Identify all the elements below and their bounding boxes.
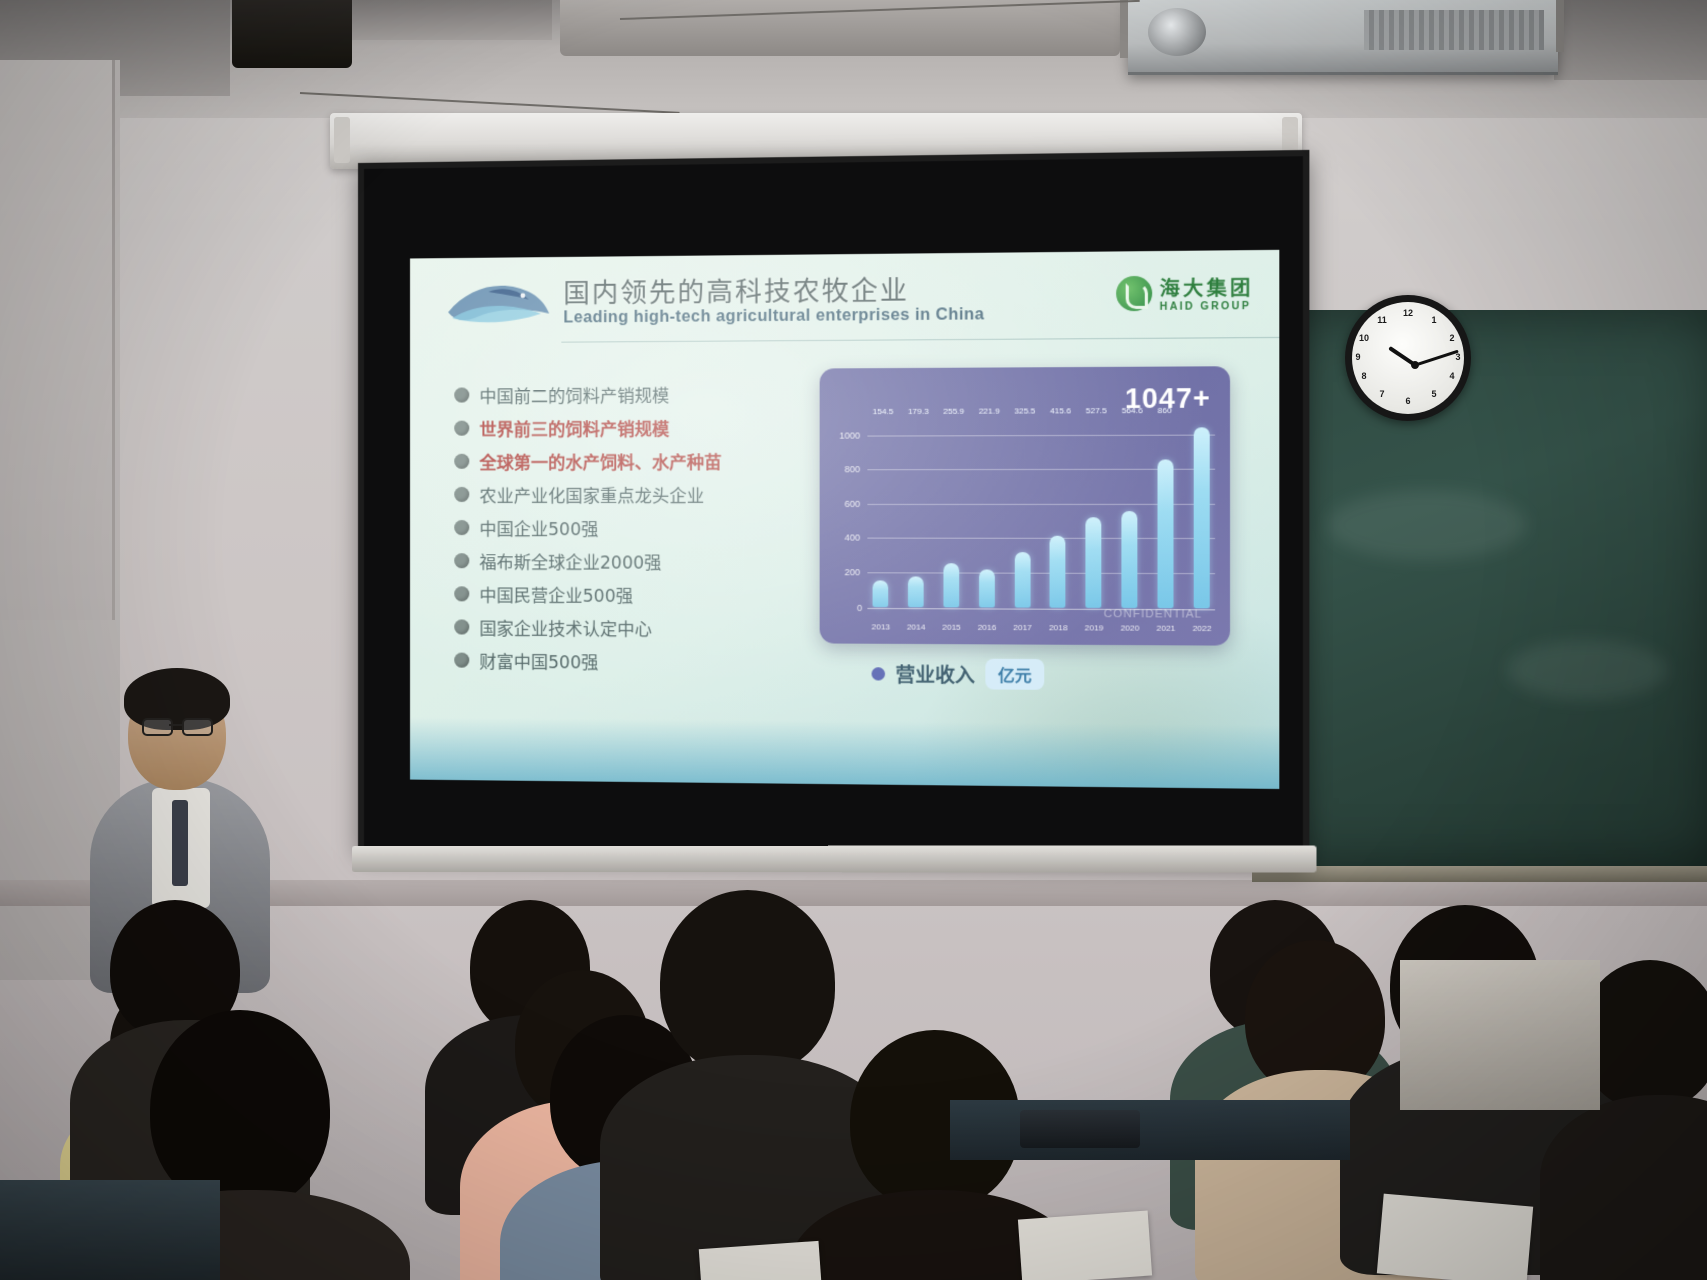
lecture-hall-scene: 12 1 2 3 4 5 6 7 8 9 10 11 bbox=[0, 0, 1707, 1280]
audience-head bbox=[660, 890, 835, 1075]
chalk-tray bbox=[1252, 866, 1707, 882]
bullet-dot-icon bbox=[454, 586, 469, 601]
chart-x-tick-label: 2017 bbox=[1013, 623, 1031, 632]
slide-background-water bbox=[410, 717, 1279, 789]
student-desk bbox=[950, 1100, 1350, 1160]
haid-name-cn: 海大集团 bbox=[1160, 273, 1254, 302]
chart-bar: 255.9 bbox=[943, 563, 959, 607]
bullet-label: 中国前二的饲料产销规模 bbox=[479, 381, 669, 407]
chart-bar-group: 154.5 bbox=[872, 419, 890, 607]
lectern bbox=[1400, 960, 1600, 1110]
title-divider bbox=[561, 337, 1279, 343]
chart-bar-group: 179.3 bbox=[907, 419, 925, 607]
ceiling-tile bbox=[1554, 0, 1707, 80]
list-item: 中国企业500强 bbox=[454, 511, 790, 545]
clock-number: 1 bbox=[1427, 315, 1441, 325]
ceiling-speaker bbox=[232, 0, 352, 68]
clock-number: 4 bbox=[1445, 371, 1459, 381]
clock-face: 12 1 2 3 4 5 6 7 8 9 10 11 bbox=[1352, 302, 1464, 414]
revenue-chart-card: 1047+ 2004006008001000154.5179.3255.9221… bbox=[820, 366, 1230, 645]
glasses-lens bbox=[142, 718, 173, 736]
handout-paper bbox=[1018, 1211, 1152, 1280]
chart-x-tick-label: 2013 bbox=[872, 622, 890, 631]
left-wall-panel bbox=[0, 60, 115, 620]
list-item: 财富中国500强 bbox=[454, 644, 790, 679]
unit-badge: 亿元 bbox=[985, 659, 1044, 690]
chart-bar bbox=[1194, 427, 1210, 608]
list-item: 福布斯全球企业2000强 bbox=[454, 544, 790, 578]
bullet-dot-icon bbox=[454, 653, 469, 668]
clock-number: 11 bbox=[1375, 315, 1389, 325]
chart-bar: 221.9 bbox=[979, 569, 995, 607]
chart-zero-label: 0 bbox=[857, 603, 862, 613]
bullet-label: 中国民营企业500强 bbox=[479, 581, 633, 607]
chart-bar: 415.6 bbox=[1050, 536, 1066, 607]
clock-number: 10 bbox=[1357, 333, 1371, 343]
bullet-dot-icon bbox=[454, 421, 469, 436]
bullet-dot-icon bbox=[454, 487, 469, 502]
clock-number: 6 bbox=[1401, 396, 1415, 406]
clock-number: 2 bbox=[1445, 333, 1459, 343]
chart-bar-group: 860 bbox=[1156, 418, 1174, 608]
chalk-smudge bbox=[1327, 490, 1527, 560]
chart-bars: 154.5179.3255.9221.9325.5415.6527.5564.6… bbox=[867, 418, 1215, 608]
screen-housing-cap bbox=[334, 117, 350, 163]
bullet-dot-icon bbox=[454, 553, 469, 568]
chart-bar-value-label: 325.5 bbox=[1014, 406, 1035, 415]
legend-marker-icon bbox=[872, 667, 886, 680]
chart-y-tick-label: 400 bbox=[844, 533, 860, 543]
chart-bar-value-label: 415.6 bbox=[1050, 406, 1071, 415]
chart-bar: 564.6 bbox=[1122, 511, 1138, 608]
bullet-label: 全球第一的水产饲料、水产种苗 bbox=[479, 448, 721, 474]
chart-bar: 860 bbox=[1158, 460, 1174, 609]
bullet-dot-icon bbox=[454, 454, 469, 469]
chart-bar: 527.5 bbox=[1086, 517, 1102, 608]
presenter-tie bbox=[172, 800, 188, 886]
bullet-label: 财富中国500强 bbox=[479, 648, 598, 674]
chart-y-tick-label: 600 bbox=[844, 498, 860, 508]
chart-bar-value-label: 221.9 bbox=[979, 406, 1000, 415]
bullet-dot-icon bbox=[454, 520, 469, 535]
chart-bar-value-label: 527.5 bbox=[1086, 406, 1107, 415]
slide-watermark: CONFIDENTIAL bbox=[1104, 608, 1203, 621]
clock-number: 5 bbox=[1427, 389, 1441, 399]
bullet-dot-icon bbox=[454, 387, 469, 402]
chart-x-tick-label: 2021 bbox=[1156, 624, 1174, 633]
chart-x-tick-labels: 2013201420152016201720182019202020212022 bbox=[867, 622, 1215, 633]
projector-lens-icon bbox=[1148, 8, 1206, 56]
chart-x-tick-label: 2022 bbox=[1193, 624, 1211, 633]
presentation-slide: 国内领先的高科技农牧企业 Leading high-tech agricultu… bbox=[410, 250, 1279, 789]
bullet-label: 福布斯全球企业2000强 bbox=[479, 548, 661, 574]
handout-paper bbox=[1377, 1194, 1533, 1280]
chart-x-tick-label: 2018 bbox=[1049, 623, 1067, 632]
glasses-lens bbox=[182, 718, 213, 736]
bullet-dot-icon bbox=[454, 619, 469, 634]
clock-center-pin bbox=[1411, 361, 1419, 369]
chart-bar: 325.5 bbox=[1014, 552, 1030, 608]
chart-x-tick-label: 2019 bbox=[1085, 623, 1103, 632]
chart-x-tick-label: 2015 bbox=[942, 623, 960, 632]
chalk-smudge bbox=[1507, 640, 1667, 700]
chart-bar-value-label: 860 bbox=[1158, 406, 1172, 415]
chart-bar-group: 221.9 bbox=[978, 419, 996, 608]
clock-number: 8 bbox=[1357, 371, 1371, 381]
chart-bar-group: 255.9 bbox=[942, 419, 960, 607]
chart-bar-value-label: 255.9 bbox=[943, 407, 964, 416]
bullet-label: 世界前三的饲料产销规模 bbox=[479, 415, 669, 441]
list-item: 世界前三的饲料产销规模 bbox=[454, 410, 790, 444]
chart-bar-group bbox=[1193, 418, 1211, 608]
list-item: 中国民营企业500强 bbox=[454, 577, 790, 611]
chart-bar-value-label: 564.6 bbox=[1122, 406, 1143, 415]
legend-series-label: 营业收入 bbox=[895, 660, 974, 688]
ceiling-tile bbox=[352, 0, 552, 40]
projection-screen: 国内领先的高科技农牧企业 Leading high-tech agricultu… bbox=[358, 150, 1309, 866]
chart-y-tick-label: 1000 bbox=[839, 430, 860, 440]
chart-bar: 179.3 bbox=[908, 576, 924, 607]
chart-y-tick-label: 800 bbox=[844, 464, 860, 474]
chart-bar-group: 325.5 bbox=[1013, 419, 1031, 608]
wall-clock: 12 1 2 3 4 5 6 7 8 9 10 11 bbox=[1345, 295, 1471, 421]
student-desk bbox=[0, 1180, 220, 1280]
ceiling-pipe bbox=[1556, 0, 1564, 52]
chart-y-tick-label: 200 bbox=[844, 567, 860, 577]
green-chalkboard bbox=[1258, 310, 1707, 870]
bullet-label: 国家企业技术认定中心 bbox=[479, 615, 652, 641]
chart-bar-value-label: 154.5 bbox=[873, 407, 894, 416]
clock-number: 12 bbox=[1401, 308, 1415, 318]
clock-number: 9 bbox=[1351, 352, 1365, 362]
slide-title-en: Leading high-tech agricultural enterpris… bbox=[563, 306, 984, 327]
bullet-label: 农业产业化国家重点龙头企业 bbox=[479, 482, 704, 507]
ceiling-duct bbox=[560, 0, 1120, 56]
ceiling-pipe bbox=[1120, 0, 1128, 58]
wave-fish-icon bbox=[444, 273, 555, 330]
chart-plot-area: 2004006008001000154.5179.3255.9221.9325.… bbox=[867, 418, 1215, 608]
chart-legend: 营业收入 亿元 bbox=[872, 658, 1045, 690]
list-item: 全球第一的水产饲料、水产种苗 bbox=[454, 444, 790, 478]
chart-x-tick-label: 2014 bbox=[907, 622, 925, 631]
ceiling-projector bbox=[1128, 0, 1558, 75]
screen-bottom-bar bbox=[352, 845, 1316, 872]
clock-number: 7 bbox=[1375, 389, 1389, 399]
haid-logo-mark-icon bbox=[1116, 276, 1152, 311]
haid-name-en: HAID GROUP bbox=[1160, 301, 1254, 313]
slide-bullet-list: 中国前二的饲料产销规模 世界前三的饲料产销规模 全球第一的水产饲料、水产种苗 农… bbox=[454, 377, 790, 679]
desk-monitor bbox=[1020, 1110, 1140, 1148]
slide-title-cn: 国内领先的高科技农牧企业 bbox=[563, 270, 909, 311]
chart-bar: 154.5 bbox=[873, 581, 889, 607]
chart-bar-value-label: 179.3 bbox=[908, 407, 929, 416]
chart-x-tick-label: 2016 bbox=[978, 623, 996, 632]
list-item: 农业产业化国家重点龙头企业 bbox=[454, 477, 790, 511]
bullet-label: 中国企业500强 bbox=[479, 515, 598, 540]
chart-bar-group: 564.6 bbox=[1121, 418, 1139, 608]
presenter-glasses-icon bbox=[142, 718, 212, 732]
list-item: 中国前二的饲料产销规模 bbox=[454, 377, 790, 412]
chart-bar-group: 527.5 bbox=[1085, 418, 1103, 607]
chart-x-tick-label: 2020 bbox=[1121, 623, 1139, 632]
list-item: 国家企业技术认定中心 bbox=[454, 610, 790, 645]
haid-group-logo: 海大集团 HAID GROUP bbox=[1116, 273, 1253, 313]
chart-bar-group: 415.6 bbox=[1049, 419, 1067, 608]
projector-vent bbox=[1364, 10, 1544, 50]
